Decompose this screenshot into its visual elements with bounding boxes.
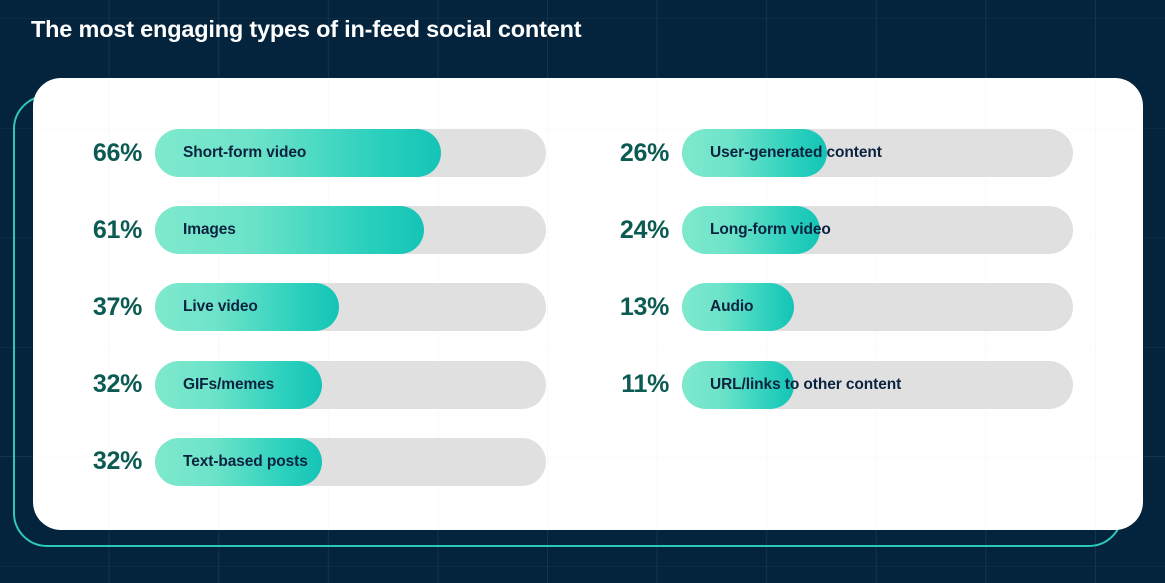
bar-percent-value: 11% xyxy=(600,370,682,399)
bar-label: User-generated content xyxy=(710,129,882,177)
bar-row: 24%Long-form video xyxy=(600,206,1073,254)
bar-row: 13%Audio xyxy=(600,283,1073,331)
bar-percent-value: 24% xyxy=(600,216,682,245)
infographic-root: 66%Short-form video61%Images37%Live vide… xyxy=(0,0,1165,583)
bar-percent-value: 13% xyxy=(600,293,682,322)
bar-percent-value: 61% xyxy=(73,216,155,245)
bar-row: 37%Live video xyxy=(73,283,546,331)
bar-track: Short-form video xyxy=(155,129,546,177)
bar-track: GIFs/memes xyxy=(155,361,546,409)
bar-row: 32%Text-based posts xyxy=(73,438,546,486)
bar-percent-value: 66% xyxy=(73,139,155,168)
bar-label: Long-form video xyxy=(710,206,831,254)
bar-label: Text-based posts xyxy=(183,438,308,486)
bar-track: Audio xyxy=(682,283,1073,331)
bar-label: Live video xyxy=(183,283,258,331)
page-title: The most engaging types of in-feed socia… xyxy=(31,16,581,43)
bar-label: URL/links to other content xyxy=(710,361,901,409)
bar-row: 32%GIFs/memes xyxy=(73,361,546,409)
bar-track: Long-form video xyxy=(682,206,1073,254)
content-card: 66%Short-form video61%Images37%Live vide… xyxy=(33,78,1143,530)
bar-row: 61%Images xyxy=(73,206,546,254)
bar-label: Short-form video xyxy=(183,129,306,177)
bar-track: User-generated content xyxy=(682,129,1073,177)
bar-track: Text-based posts xyxy=(155,438,546,486)
bar-track: Live video xyxy=(155,283,546,331)
bar-percent-value: 37% xyxy=(73,293,155,322)
bar-percent-value: 26% xyxy=(600,139,682,168)
bar-label: GIFs/memes xyxy=(183,361,274,409)
bar-row: 11%URL/links to other content xyxy=(600,361,1073,409)
bar-row: 66%Short-form video xyxy=(73,129,546,177)
bar-row: 26%User-generated content xyxy=(600,129,1073,177)
bar-label: Images xyxy=(183,206,236,254)
bar-track: Images xyxy=(155,206,546,254)
bar-percent-value: 32% xyxy=(73,447,155,476)
bar-label: Audio xyxy=(710,283,753,331)
bar-track: URL/links to other content xyxy=(682,361,1073,409)
bar-percent-value: 32% xyxy=(73,370,155,399)
